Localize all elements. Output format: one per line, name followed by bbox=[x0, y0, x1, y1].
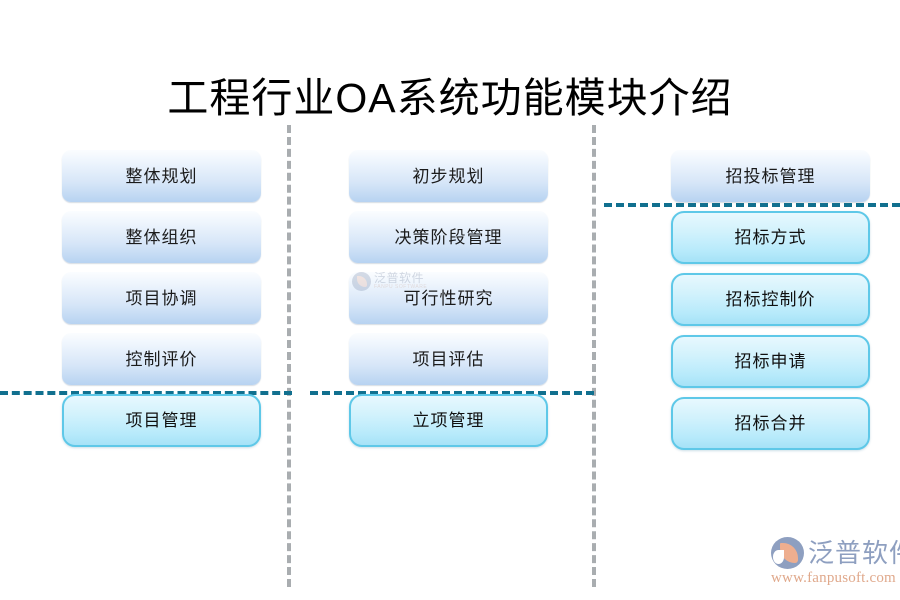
brand-name-cn: 泛普软件 bbox=[808, 538, 900, 568]
module-box-label: 可行性研究 bbox=[404, 290, 494, 307]
module-box-label: 招标方式 bbox=[735, 229, 807, 246]
module-box-label: 立项管理 bbox=[413, 412, 485, 429]
brand-website-url: www.fanpusoft.com bbox=[771, 570, 894, 587]
module-box-label: 招标控制价 bbox=[726, 291, 816, 308]
module-box-label: 项目评估 bbox=[413, 351, 485, 368]
module-box-label: 整体规划 bbox=[126, 168, 198, 185]
fanpu-mark-icon bbox=[771, 537, 804, 569]
module-box-highlight[interactable]: 项目管理 bbox=[62, 394, 261, 447]
module-box-label: 招投标管理 bbox=[726, 168, 816, 185]
brand-logo-row: 泛普软件 bbox=[771, 536, 894, 570]
module-box[interactable]: 初步规划 bbox=[349, 150, 548, 202]
vertical-divider-2 bbox=[592, 125, 596, 587]
brand-logo: 泛普软件 www.fanpusoft.com bbox=[771, 536, 894, 590]
module-box-label: 项目协调 bbox=[126, 290, 198, 307]
module-box-label: 项目管理 bbox=[126, 412, 198, 429]
module-box-label: 招标合并 bbox=[735, 415, 807, 432]
module-box-highlight[interactable]: 招标方式 bbox=[671, 211, 870, 264]
slide-canvas: 工程行业OA系统功能模块介绍 整体规划 整体组织 项目协调 控制评价 项目管理 … bbox=[0, 0, 900, 600]
module-column-3: 招投标管理 招标方式 招标控制价 招标申请 招标合并 bbox=[671, 150, 870, 459]
module-box-label: 控制评价 bbox=[126, 351, 198, 368]
module-column-2: 初步规划 决策阶段管理 可行性研究 项目评估 立项管理 bbox=[349, 150, 548, 456]
module-box-highlight[interactable]: 招标控制价 bbox=[671, 273, 870, 326]
module-box-highlight[interactable]: 招标申请 bbox=[671, 335, 870, 388]
vertical-divider-1 bbox=[287, 125, 291, 587]
module-column-1: 整体规划 整体组织 项目协调 控制评价 项目管理 bbox=[62, 150, 261, 456]
module-box[interactable]: 决策阶段管理 bbox=[349, 211, 548, 263]
module-box-label: 整体组织 bbox=[126, 229, 198, 246]
module-box-label: 招标申请 bbox=[735, 353, 807, 370]
module-box-label: 决策阶段管理 bbox=[395, 229, 503, 246]
module-box[interactable]: 控制评价 bbox=[62, 333, 261, 385]
module-box[interactable]: 可行性研究 bbox=[349, 272, 548, 324]
module-box[interactable]: 整体组织 bbox=[62, 211, 261, 263]
page-title: 工程行业OA系统功能模块介绍 bbox=[0, 71, 900, 126]
module-box-label: 初步规划 bbox=[413, 168, 485, 185]
module-box[interactable]: 整体规划 bbox=[62, 150, 261, 202]
module-box-highlight[interactable]: 招标合并 bbox=[671, 397, 870, 450]
module-box-highlight[interactable]: 立项管理 bbox=[349, 394, 548, 447]
module-box[interactable]: 项目评估 bbox=[349, 333, 548, 385]
module-box[interactable]: 项目协调 bbox=[62, 272, 261, 324]
module-box[interactable]: 招投标管理 bbox=[671, 150, 870, 202]
